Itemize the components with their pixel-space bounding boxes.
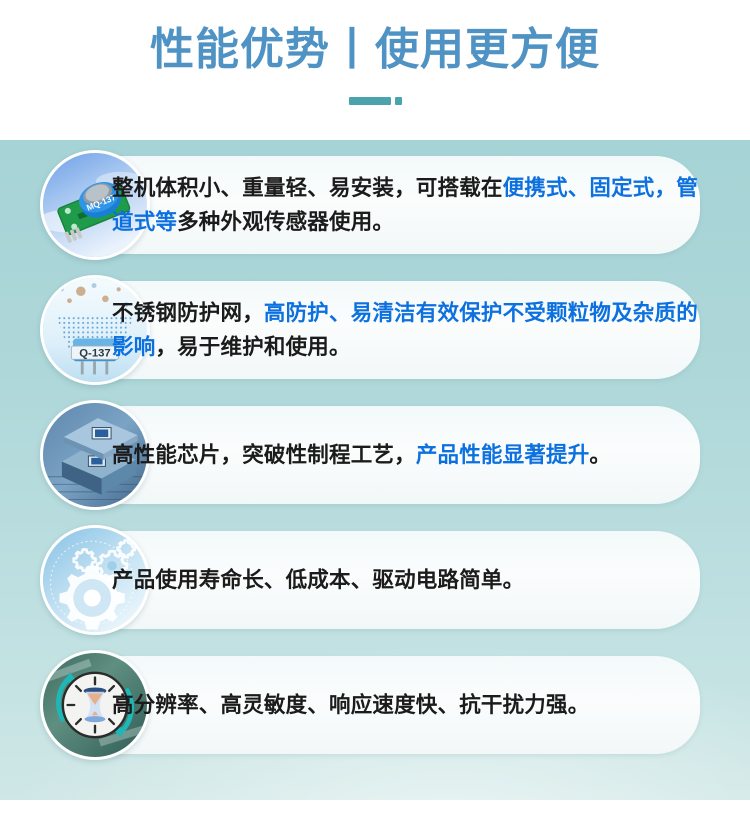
feature-card-text: 高性能芯片，突破性制程工艺，产品性能显著提升。: [112, 438, 714, 472]
body-text: 。: [589, 443, 611, 467]
body-text: 高分辨率、高灵敏度、响应速度快、抗干扰力强。: [112, 693, 589, 717]
page-header: 性能优势丨使用更方便: [0, 0, 750, 140]
feature-card: MQ-137 整机体积小、重量轻、易安装，可搭载在便携式、固定式，管道式等多种外…: [0, 150, 750, 260]
feature-highlights-page: 性能优势丨使用更方便: [0, 0, 750, 835]
body-text: ，易于维护和使用。: [155, 335, 350, 359]
body-text: 整机体积小、重量轻、易安装，可搭载在: [112, 176, 503, 200]
divider-bar: [349, 97, 391, 105]
divider-dot: [395, 97, 402, 105]
title-divider: [0, 95, 750, 107]
body-text: 多种外观传感器使用。: [177, 210, 394, 234]
body-text: 不锈钢防护网，: [112, 301, 264, 325]
feature-card: 高分辨率、高灵敏度、响应速度快、抗干扰力强。: [0, 650, 750, 760]
feature-card: 高性能芯片，突破性制程工艺，产品性能显著提升。: [0, 400, 750, 510]
highlight-text: 产品性能显著提升: [416, 443, 590, 467]
feature-card-text: 不锈钢防护网，高防护、易清洁有效保护不受颗粒物及杂质的影响，易于维护和使用。: [112, 296, 714, 364]
bottom-white-strip: [0, 800, 750, 835]
body-text: 产品使用寿命长、低成本、驱动电路简单。: [112, 568, 524, 592]
feature-card: 产品使用寿命长、低成本、驱动电路简单。: [0, 525, 750, 635]
feature-card-text: 产品使用寿命长、低成本、驱动电路简单。: [112, 563, 714, 597]
feature-card-text: 整机体积小、重量轻、易安装，可搭载在便携式、固定式，管道式等多种外观传感器使用。: [112, 171, 714, 239]
feature-card: Q-137 不锈钢防护网，高防护、易清洁有效保护不受颗粒物及杂质的影响，易于维护…: [0, 275, 750, 385]
svg-text:Q-137: Q-137: [79, 347, 110, 359]
body-text: 高性能芯片，突破性制程工艺，: [112, 443, 416, 467]
page-title: 性能优势丨使用更方便: [0, 22, 750, 78]
feature-card-list: MQ-137 整机体积小、重量轻、易安装，可搭载在便携式、固定式，管道式等多种外…: [0, 150, 750, 775]
feature-card-text: 高分辨率、高灵敏度、响应速度快、抗干扰力强。: [112, 688, 714, 722]
